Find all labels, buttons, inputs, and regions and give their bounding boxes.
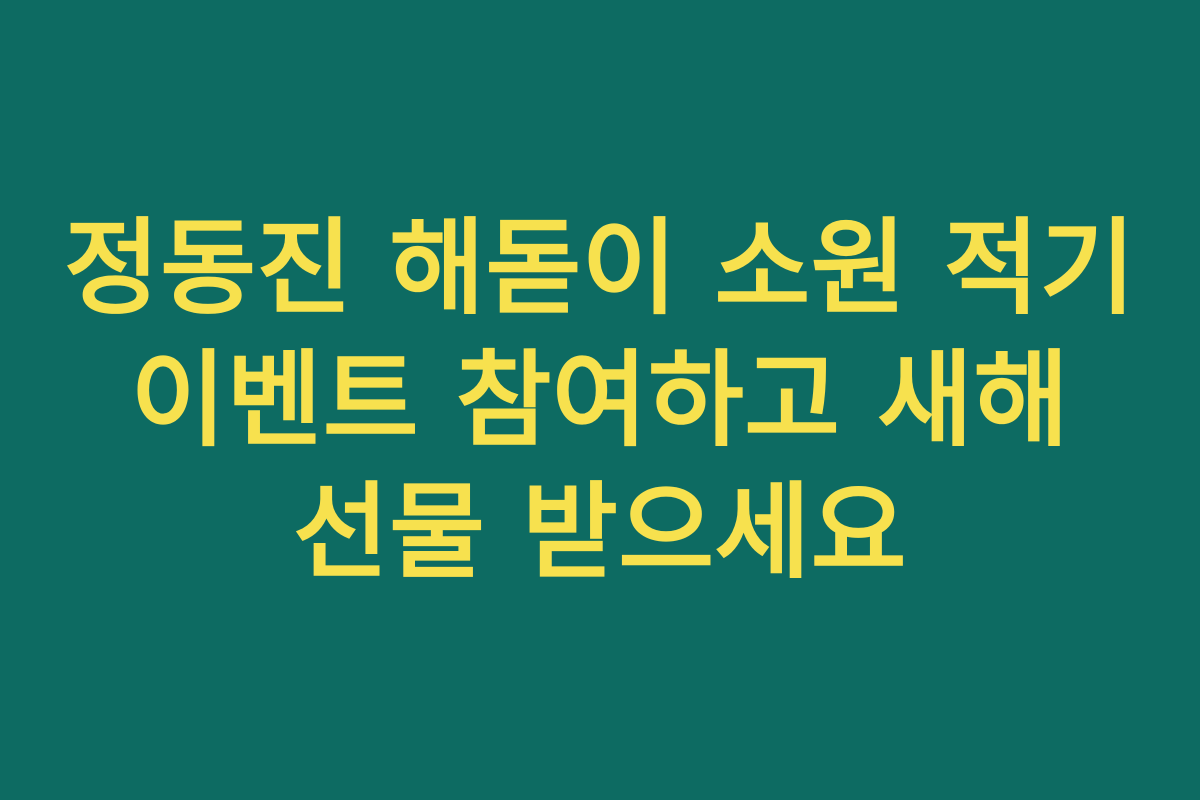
headline-block: 정동진 해돋이 소원 적기 이벤트 참여하고 새해 선물 받으세요 xyxy=(0,202,1200,598)
headline-line-1: 정동진 해돋이 소원 적기 xyxy=(40,202,1160,334)
headline-line-3: 선물 받으세요 xyxy=(40,466,1160,598)
promo-banner: 정동진 해돋이 소원 적기 이벤트 참여하고 새해 선물 받으세요 xyxy=(0,0,1200,800)
headline-line-2: 이벤트 참여하고 새해 xyxy=(40,334,1160,466)
